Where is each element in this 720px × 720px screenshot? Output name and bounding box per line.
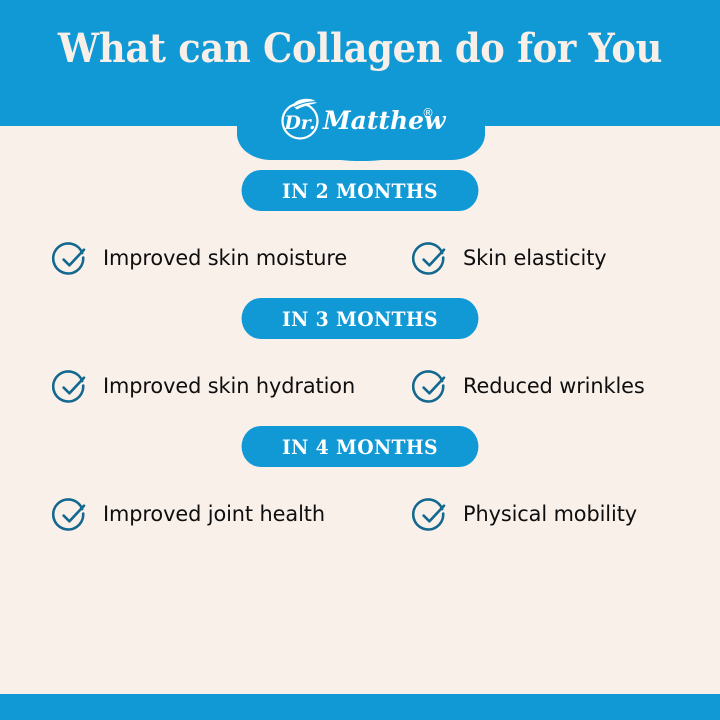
benefit-label: Improved joint health <box>103 502 325 528</box>
benefits-section: IN 4 MONTHS Improved joint health <box>0 426 720 534</box>
check-circle-icon <box>412 496 450 534</box>
check-circle-icon <box>52 496 90 534</box>
timeframe-badge-3-months: IN 3 MONTHS <box>242 298 479 339</box>
benefits-sections: IN 2 MONTHS Improved skin moisture <box>0 170 720 534</box>
benefit-label: Physical mobility <box>463 502 637 528</box>
list-item: Skin elasticity <box>412 240 712 278</box>
list-item: Improved skin hydration <box>52 368 412 406</box>
benefit-items-row: Improved joint health Physical mobility <box>0 496 720 534</box>
badge-row: IN 4 MONTHS <box>0 426 720 467</box>
benefits-section: IN 2 MONTHS Improved skin moisture <box>0 170 720 278</box>
check-circle-icon <box>412 368 450 406</box>
list-item: Improved joint health <box>52 496 412 534</box>
badge-row: IN 3 MONTHS <box>0 298 720 339</box>
benefit-label: Reduced wrinkles <box>463 374 645 400</box>
list-item: Physical mobility <box>412 496 712 534</box>
benefits-section: IN 3 MONTHS Improved skin hydration <box>0 298 720 406</box>
page-title: What can Collagen do for You <box>29 26 691 72</box>
footer-band <box>0 694 720 720</box>
benefit-label: Skin elasticity <box>463 246 607 272</box>
list-item: Improved skin moisture <box>52 240 412 278</box>
list-item: Reduced wrinkles <box>412 368 712 406</box>
brand-logo: Dr. Matthew ® <box>237 94 485 142</box>
benefit-items-row: Improved skin hydration Reduced wrinkles <box>0 368 720 406</box>
svg-text:®: ® <box>422 106 434 120</box>
collagen-benefits-poster: What can Collagen do for You Dr. Matthew… <box>0 0 720 720</box>
benefit-label: Improved skin hydration <box>103 374 355 400</box>
timeframe-badge-4-months: IN 4 MONTHS <box>242 426 479 467</box>
check-circle-icon <box>52 368 90 406</box>
check-circle-icon <box>412 240 450 278</box>
benefit-label: Improved skin moisture <box>103 246 347 272</box>
benefit-items-row: Improved skin moisture Skin elasticity <box>0 240 720 278</box>
timeframe-badge-2-months: IN 2 MONTHS <box>242 170 479 211</box>
check-circle-icon <box>52 240 90 278</box>
svg-text:Dr.: Dr. <box>283 112 315 134</box>
badge-row: IN 2 MONTHS <box>0 170 720 211</box>
